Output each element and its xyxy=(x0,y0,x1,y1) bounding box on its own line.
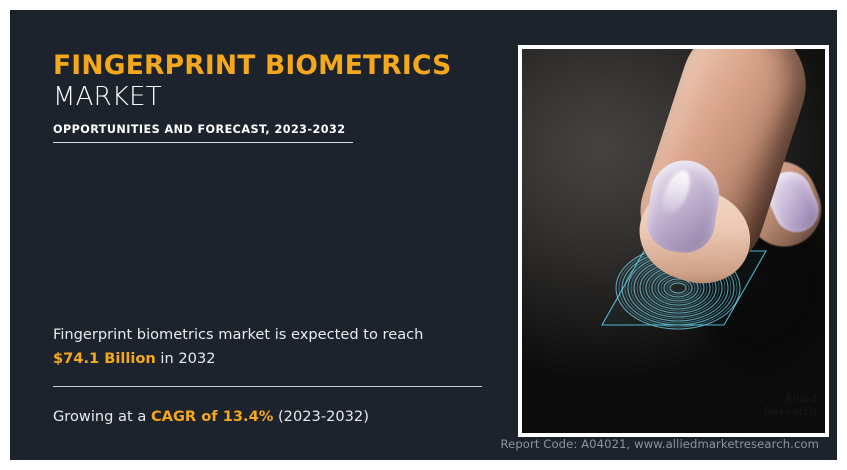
stat-primary-value: $74.1 Billion xyxy=(53,350,156,367)
stat-secondary-value: CAGR of 13.4% xyxy=(151,408,273,425)
stat-secondary-tail: (2023-2032) xyxy=(273,408,369,425)
stat-primary-tail: in 2032 xyxy=(156,350,216,367)
infographic-root: FINGERPRINT BIOMETRICS MARKET OPPORTUNIT… xyxy=(0,0,847,470)
title-sub: MARKET xyxy=(53,82,493,113)
stat-primary-lead: Fingerprint biometrics market is expecte… xyxy=(53,326,423,343)
content-column: FINGERPRINT BIOMETRICS MARKET OPPORTUNIT… xyxy=(53,10,493,460)
kicker-underline xyxy=(53,142,353,143)
page-title: FINGERPRINT BIOMETRICS MARKET xyxy=(53,52,493,112)
nail-gloss xyxy=(657,167,695,218)
title-main: FINGERPRINT BIOMETRICS xyxy=(53,52,493,81)
stat-primary: Fingerprint biometrics market is expecte… xyxy=(53,323,493,370)
kicker-block: OPPORTUNITIES AND FORECAST, 2023-2032 xyxy=(53,118,353,143)
stat-secondary: Growing at a CAGR of 13.4% (2023-2032) xyxy=(53,406,493,428)
biometric-photo: Allied Research xyxy=(522,49,825,433)
kicker-text: OPPORTUNITIES AND FORECAST, 2023-2032 xyxy=(53,123,345,142)
stat-secondary-lead: Growing at a xyxy=(53,408,151,425)
stat-divider xyxy=(53,386,482,387)
photo-frame: Allied Research xyxy=(518,45,829,437)
report-code-footer: Report Code: A04021, www.alliedmarketres… xyxy=(500,437,819,451)
dark-panel: FINGERPRINT BIOMETRICS MARKET OPPORTUNIT… xyxy=(10,10,837,460)
